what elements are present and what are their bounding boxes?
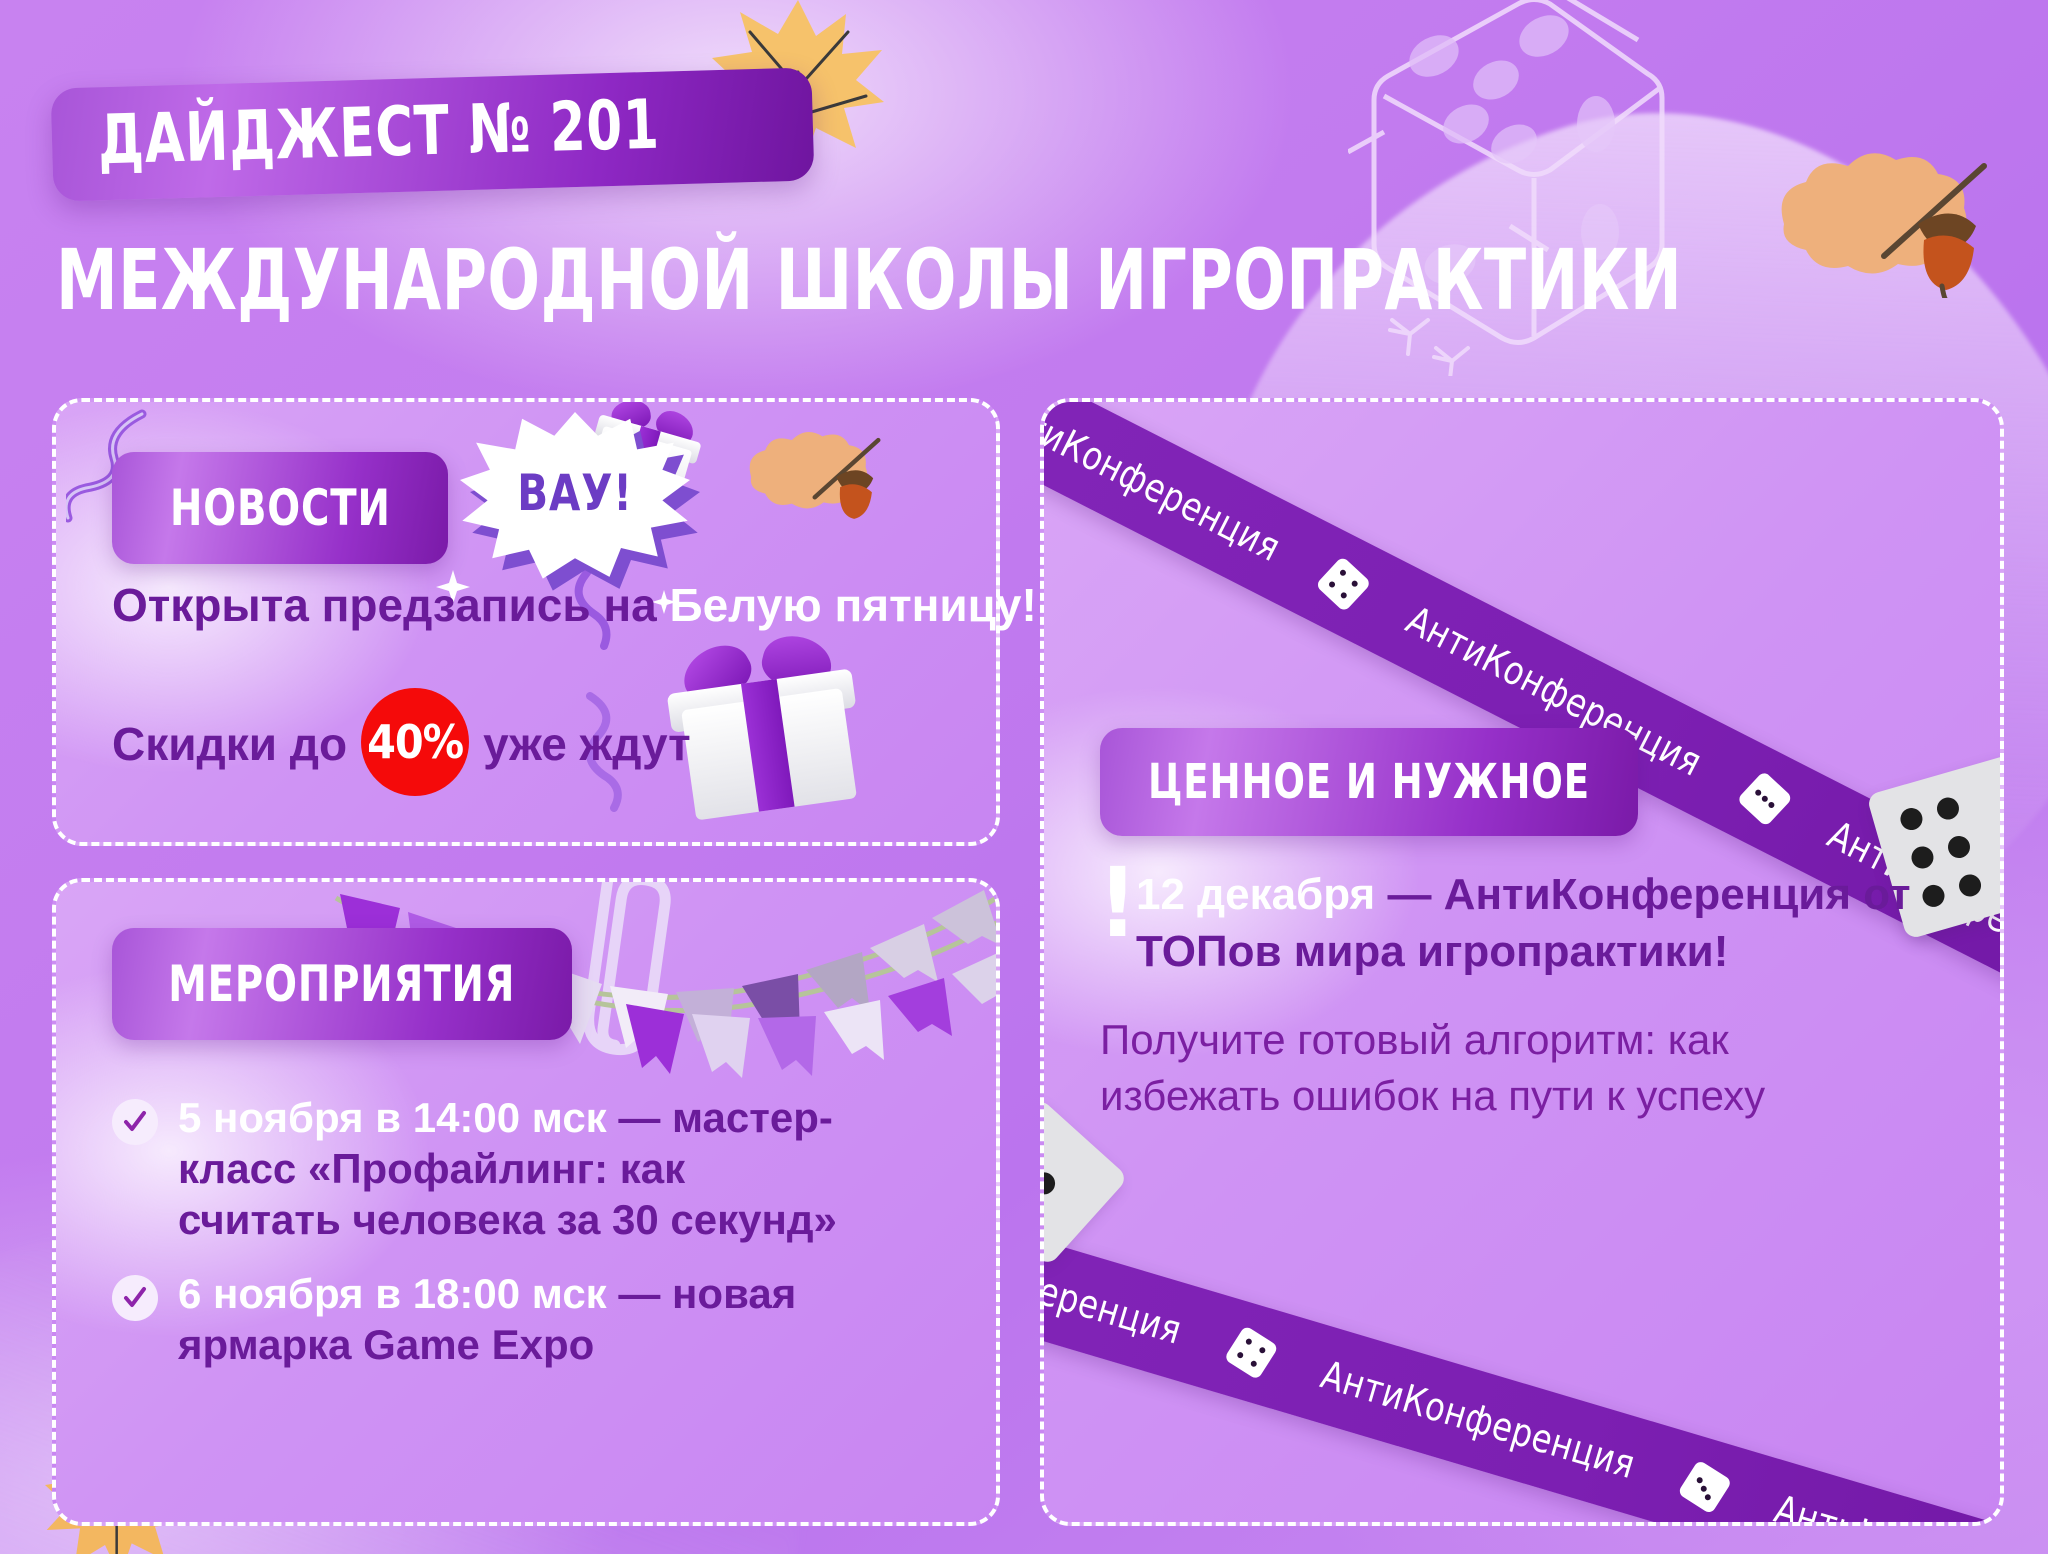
digest-badge-label: ДАЙДЖЕСТ № 201	[97, 94, 660, 174]
news-line-two-prefix: Скидки до	[112, 717, 347, 771]
event-item: 5 ноября в 14:00 мск — мастер-класс «Про…	[112, 1092, 852, 1246]
die-icon	[1678, 1460, 1733, 1515]
event-item: 6 ноября в 18:00 мск — новая ярмарка Gam…	[112, 1268, 852, 1370]
news-pill: НОВОСТИ	[112, 452, 448, 564]
page-title: МЕЖДУНАРОДНОЙ ШКОЛЫ ИГРОПРАКТИКИ	[56, 238, 1682, 322]
ribbon-text: АнтиКонференция	[1316, 1352, 1640, 1487]
event-date: 5 ноября в 14:00 мск	[178, 1094, 607, 1141]
events-pill: МЕРОПРИЯТИЯ	[112, 928, 572, 1040]
ribbon-text: АнтиКонференция	[1040, 398, 1288, 571]
news-line-one-prefix: Открыта предзапись на	[112, 579, 670, 631]
anticonference-ribbon-bottom: АнтиКонференция АнтиКонференция АнтиКонф…	[1040, 1182, 2004, 1526]
news-line-one: Открыта предзапись на Белую пятницу!	[112, 578, 1037, 632]
die-icon	[1224, 1325, 1279, 1380]
event-date: 6 ноября в 18:00 мск	[178, 1270, 607, 1317]
check-circle-icon	[112, 1275, 158, 1321]
wow-starburst: ВАУ!	[460, 412, 690, 582]
wow-label: ВАУ!	[472, 408, 679, 578]
valuable-headline: 12 декабря — АнтиКонференция от ТОПов ми…	[1136, 866, 1926, 980]
acorn-icon	[1776, 128, 1996, 298]
valuable-date: 12 декабря	[1136, 870, 1375, 919]
news-line-one-highlight: Белую пятницу!	[670, 579, 1037, 631]
news-line-two-suffix: уже ждут	[483, 717, 691, 771]
event-text: 5 ноября в 14:00 мск — мастер-класс «Про…	[178, 1092, 852, 1246]
discount-badge: 40%	[361, 688, 469, 796]
news-pill-label: НОВОСТИ	[170, 479, 391, 537]
event-text: 6 ноября в 18:00 мск — новая ярмарка Gam…	[178, 1268, 852, 1370]
check-circle-icon	[112, 1099, 158, 1145]
acorn-icon	[746, 416, 886, 524]
valuable-pill: ЦЕННОЕ И НУЖНОЕ	[1100, 728, 1638, 836]
events-pill-label: МЕРОПРИЯТИЯ	[168, 955, 515, 1013]
news-line-two: Скидки до 40% уже ждут	[112, 690, 691, 798]
digest-badge: ДАЙДЖЕСТ № 201	[51, 67, 815, 201]
valuable-body: Получите готовый алгоритм: как избежать …	[1100, 1012, 1860, 1124]
die-icon	[1737, 771, 1794, 828]
ribbon-text: АнтиКонференция	[1770, 1487, 2004, 1526]
valuable-pill-label: ЦЕННОЕ И НУЖНОЕ	[1148, 754, 1590, 810]
exclamation-mark: !	[1098, 862, 1137, 945]
die-icon	[1315, 556, 1372, 613]
